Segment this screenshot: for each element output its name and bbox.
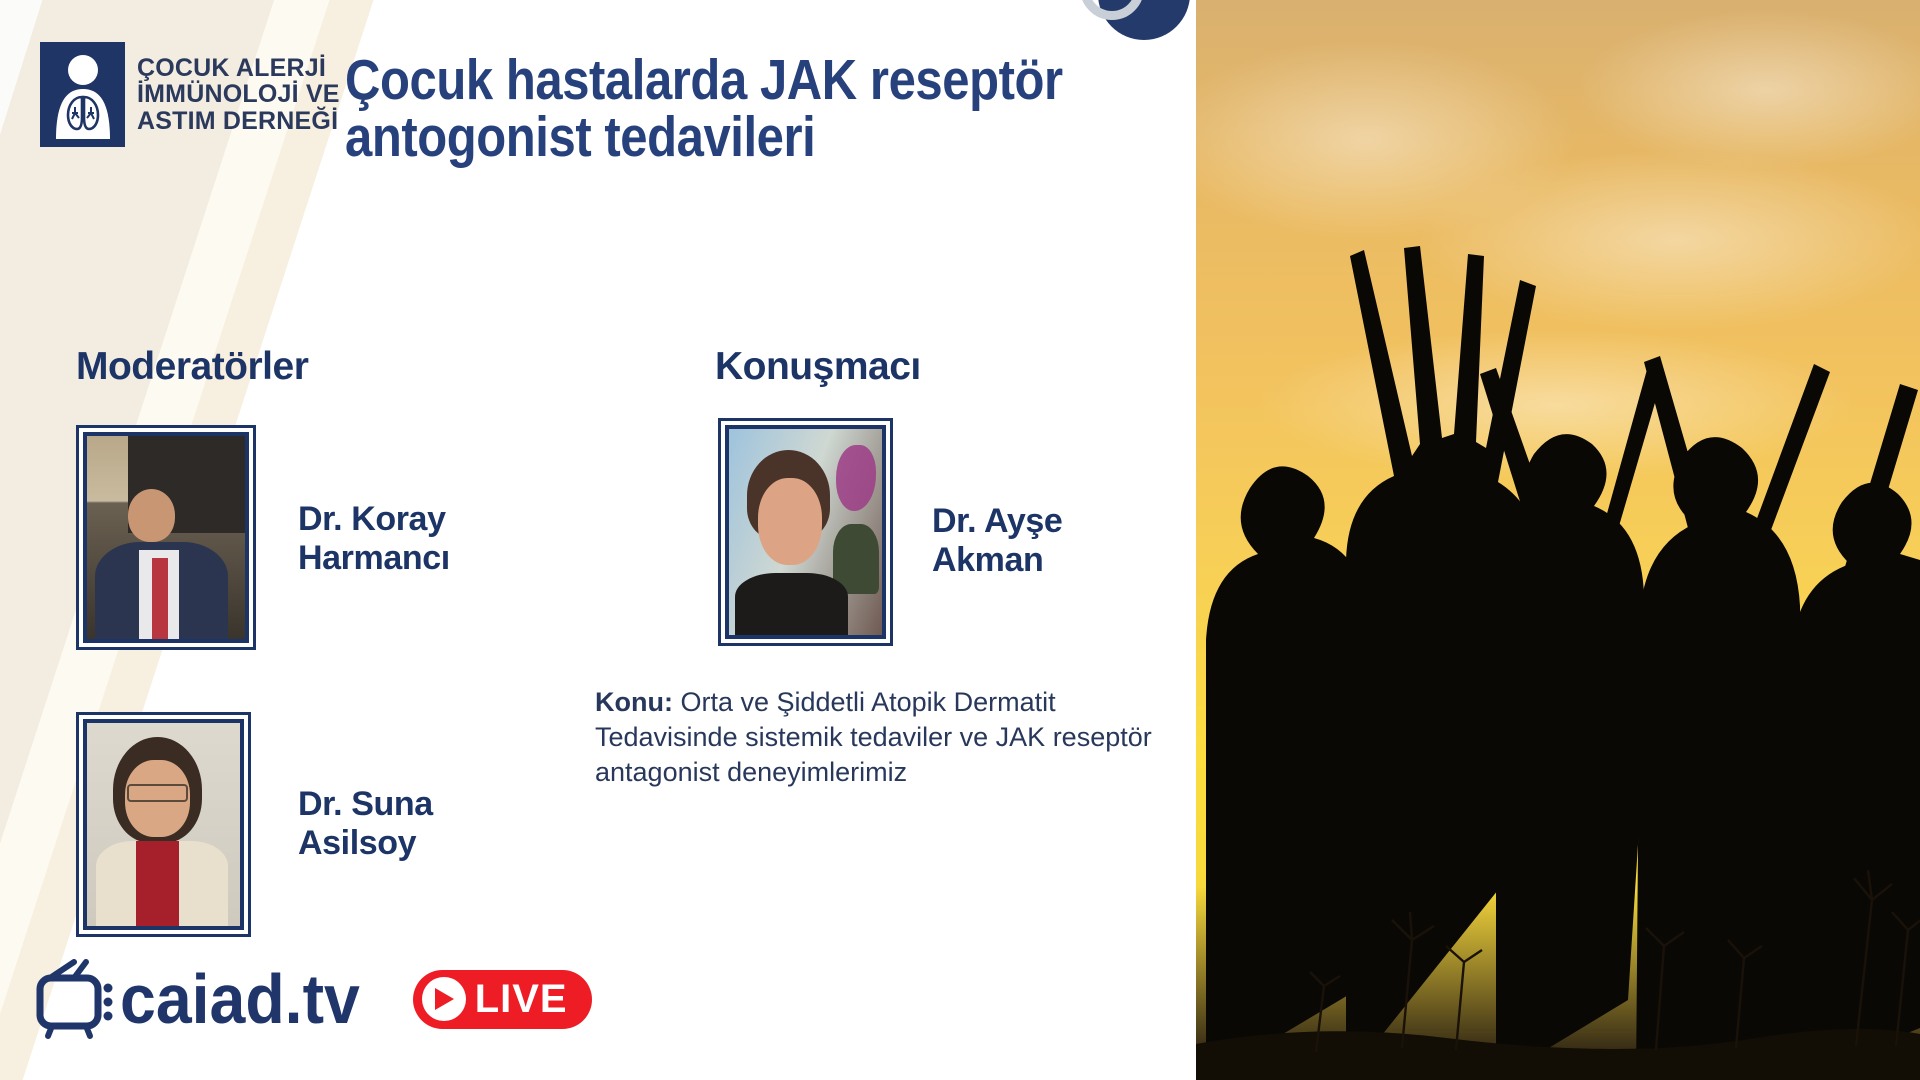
speaker-heading: Konuşmacı [715, 345, 921, 389]
sunset-hero-image: 22.01.2025 Çarşamba 20.00-21.00 [1196, 0, 1920, 1080]
moderators-heading: Moderatörler [76, 345, 308, 389]
logo-line-1: ÇOCUK ALERJİ [137, 55, 340, 82]
moderator-1-name-line-2: Harmancı [298, 539, 450, 578]
topic-text: Orta ve Şiddetli Atopik Dermatit Tedavis… [595, 687, 1152, 787]
moderator-2-name-line-2: Asilsoy [298, 824, 433, 863]
page-title: Çocuk hastalarda JAK reseptör antogonist… [345, 52, 1155, 166]
speaker-name: Dr. Ayşe Akman [932, 502, 1062, 580]
play-circle-icon [422, 977, 466, 1021]
moderator-1-name-line-1: Dr. Koray [298, 500, 450, 539]
webinar-poster: ÇOCUK ALERJİ İMMÜNOLOJİ VE ASTIM DERNEĞİ… [0, 0, 1920, 1080]
speaker-photo-frame [718, 418, 893, 646]
brand-name[interactable]: caiad.tv [120, 959, 360, 1039]
logo-line-3: ASTIM DERNEĞİ [137, 108, 340, 135]
live-label: LIVE [475, 977, 568, 1022]
moderator-2-name-line-1: Dr. Suna [298, 785, 433, 824]
topic-block: Konu: Orta ve Şiddetli Atopik Dermatit T… [595, 685, 1195, 790]
speaker-name-line-1: Dr. Ayşe [932, 502, 1062, 541]
portrait-koray-harmanci [87, 436, 245, 639]
left-content-panel: ÇOCUK ALERJİ İMMÜNOLOJİ VE ASTIM DERNEĞİ… [0, 0, 1196, 1080]
live-badge[interactable]: LIVE [413, 970, 592, 1029]
logo-line-2: İMMÜNOLOJİ VE [137, 81, 340, 108]
moderator-2-name: Dr. Suna Asilsoy [298, 785, 433, 863]
lungs-person-icon [40, 42, 125, 147]
television-icon [34, 958, 126, 1040]
moderator-1-name: Dr. Koray Harmancı [298, 500, 450, 578]
organization-logo: ÇOCUK ALERJİ İMMÜNOLOJİ VE ASTIM DERNEĞİ [40, 42, 340, 147]
portrait-ayse-akman [729, 429, 882, 635]
photo-inner-border [725, 425, 886, 639]
moderator-2-photo-frame [76, 712, 251, 937]
people-silhouettes [1196, 0, 1920, 1080]
photo-inner-border [83, 719, 244, 930]
footer-branding: caiad.tv LIVE [34, 958, 592, 1040]
portrait-suna-asilsoy [87, 723, 240, 926]
photo-inner-border [83, 432, 249, 643]
title-line-2: antogonist tedavileri [345, 109, 1042, 166]
title-line-1: Çocuk hastalarda JAK reseptör [345, 52, 1042, 109]
organization-name: ÇOCUK ALERJİ İMMÜNOLOJİ VE ASTIM DERNEĞİ [137, 55, 340, 135]
moderator-1-photo-frame [76, 425, 256, 650]
speaker-name-line-2: Akman [932, 541, 1062, 580]
topic-label: Konu: [595, 687, 673, 717]
